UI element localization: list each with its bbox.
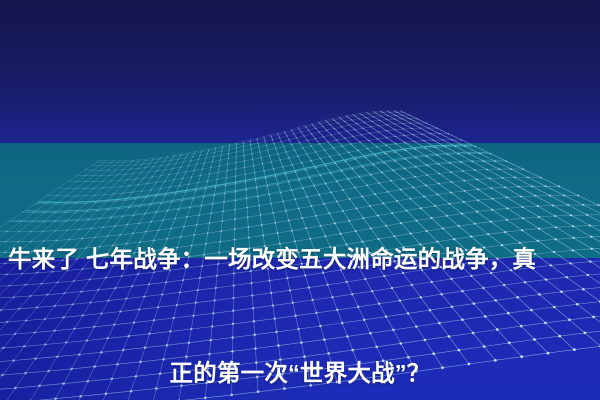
cover-banner: 牛来了 七年战争：一场改变五大洲命运的战争，真 正的第一次“世界大战”？ <box>0 0 600 400</box>
page-title: 牛来了 七年战争：一场改变五大洲命运的战争，真 正的第一次“世界大战”？ <box>0 164 600 400</box>
page-title-line-1: 牛来了 七年战争：一场改变五大洲命运的战争，真 <box>0 240 600 278</box>
page-title-line-2: 正的第一次“世界大战”？ <box>0 354 600 392</box>
